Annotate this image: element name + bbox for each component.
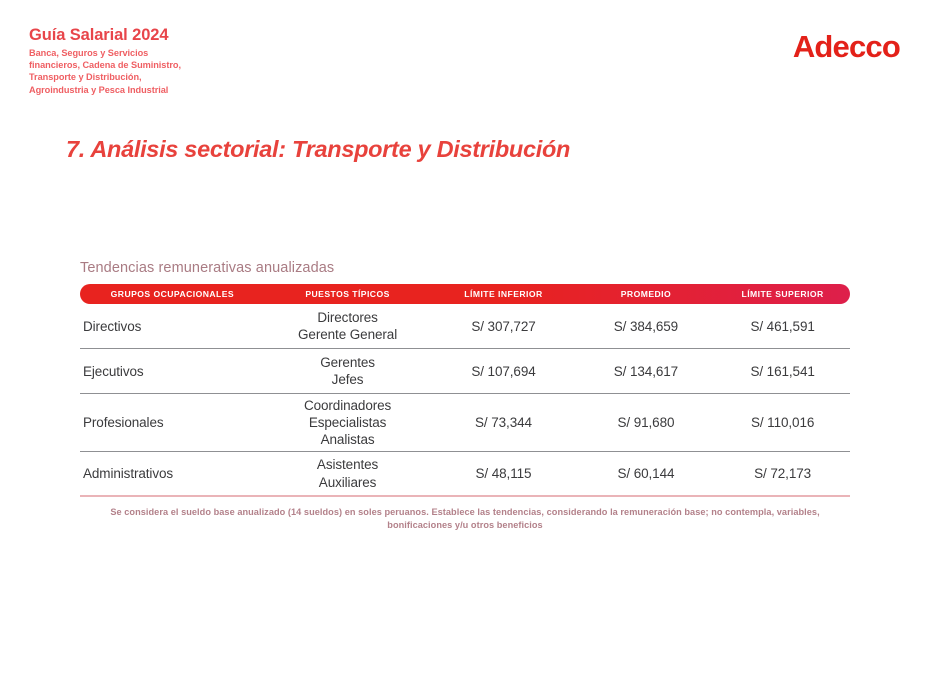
- cell-promedio: S/ 384,659: [577, 319, 716, 334]
- table-row: Administrativos AsistentesAuxiliares S/ …: [80, 452, 850, 497]
- table-caption: Tendencias remunerativas anualizadas: [80, 260, 850, 276]
- table-header-row: GRUPOS OCUPACIONALES PUESTOS TÍPICOS LÍM…: [80, 284, 850, 304]
- cell-grupo: Ejecutivos: [80, 364, 265, 379]
- cell-limite-superior: S/ 72,173: [715, 466, 850, 481]
- cell-puestos: AsistentesAuxiliares: [265, 456, 431, 491]
- cell-limite-inferior: S/ 107,694: [430, 364, 576, 379]
- cell-puestos: GerentesJefes: [265, 354, 431, 389]
- table-footnote: Se considera el sueldo base anualizado (…: [80, 506, 850, 533]
- brand-subtitle: Banca, Seguros y Servicios financieros, …: [29, 47, 329, 96]
- brand-subtitle-line: financieros, Cadena de Suministro,: [29, 59, 329, 71]
- adecco-logo: Adecco: [793, 31, 900, 62]
- brand-header: Guía Salarial 2024 Banca, Seguros y Serv…: [29, 26, 329, 96]
- cell-limite-superior: S/ 161,541: [715, 364, 850, 379]
- cell-grupo: Directivos: [80, 319, 265, 334]
- cell-limite-inferior: S/ 48,115: [430, 466, 576, 481]
- brand-subtitle-line: Banca, Seguros y Servicios: [29, 47, 329, 59]
- cell-limite-superior: S/ 110,016: [715, 415, 850, 430]
- cell-grupo: Profesionales: [80, 415, 265, 430]
- cell-grupo: Administrativos: [80, 466, 265, 481]
- brand-title: Guía Salarial 2024: [29, 26, 329, 44]
- cell-puestos: DirectoresGerente General: [265, 309, 431, 344]
- cell-promedio: S/ 60,144: [577, 466, 716, 481]
- cell-promedio: S/ 91,680: [577, 415, 716, 430]
- cell-promedio: S/ 134,617: [577, 364, 716, 379]
- table-header-puestos-tipicos: PUESTOS TÍPICOS: [265, 289, 431, 299]
- table-header-grupos-ocupacionales: GRUPOS OCUPACIONALES: [80, 289, 265, 299]
- table-row: Ejecutivos GerentesJefes S/ 107,694 S/ 1…: [80, 349, 850, 394]
- page-title: 7. Análisis sectorial: Transporte y Dist…: [66, 136, 570, 163]
- table-row: Profesionales CoordinadoresEspecialistas…: [80, 394, 850, 452]
- cell-limite-inferior: S/ 307,727: [430, 319, 576, 334]
- brand-subtitle-line: Transporte y Distribución,: [29, 71, 329, 83]
- table-body: Directivos DirectoresGerente General S/ …: [80, 304, 850, 497]
- table-header-limite-superior: LÍMITE SUPERIOR: [715, 289, 850, 299]
- table-row: Directivos DirectoresGerente General S/ …: [80, 304, 850, 349]
- cell-puestos: CoordinadoresEspecialistasAnalistas: [265, 397, 431, 449]
- table-header-limite-inferior: LÍMITE INFERIOR: [430, 289, 576, 299]
- table-header-promedio: PROMEDIO: [577, 289, 716, 299]
- salary-table-block: Tendencias remunerativas anualizadas GRU…: [80, 260, 850, 533]
- cell-limite-inferior: S/ 73,344: [430, 415, 576, 430]
- brand-subtitle-line: Agroindustria y Pesca Industrial: [29, 84, 329, 96]
- cell-limite-superior: S/ 461,591: [715, 319, 850, 334]
